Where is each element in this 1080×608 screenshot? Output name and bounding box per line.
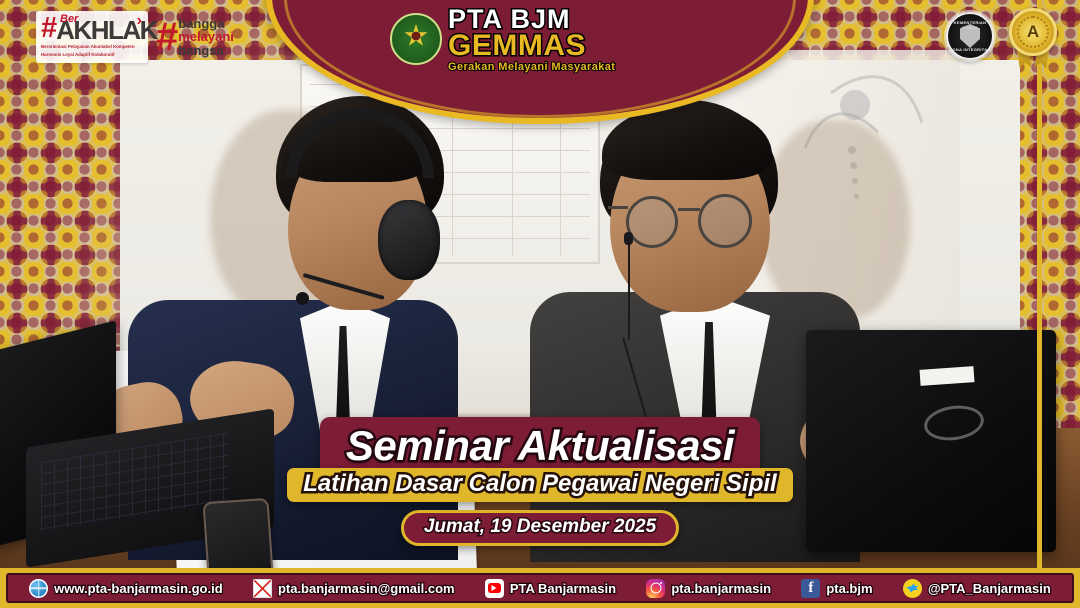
globe-icon xyxy=(29,579,48,598)
title-sub-banner: Latihan Dasar Calon Pegawai Negeri Sipil xyxy=(287,468,792,502)
twitter-label: @PTA_Banjarmasin xyxy=(928,581,1051,596)
poster-canvas: PTA BJM GEMMAS Gerakan Melayani Masyarak… xyxy=(0,0,1080,608)
footer-item-twitter[interactable]: @PTA_Banjarmasin xyxy=(903,579,1051,598)
event-subtitle: Latihan Dasar Calon Pegawai Negeri Sipil xyxy=(303,470,776,497)
facebook-label: pta.bjm xyxy=(826,581,872,596)
bangga-line2: melayani xyxy=(178,30,234,43)
youtube-label: PTA Banjarmasin xyxy=(510,581,616,596)
event-title: Seminar Aktualisasi xyxy=(346,422,734,469)
fujitsu-logo-icon xyxy=(922,402,986,444)
chevron-right-icon: › xyxy=(137,14,142,28)
pta-emblem-icon xyxy=(390,13,442,65)
twitter-icon xyxy=(903,579,922,598)
footer-item-facebook[interactable]: f pta.bjm xyxy=(801,579,872,598)
bangga-line1: bangga xyxy=(178,17,234,30)
instagram-label: pta.banjarmasin xyxy=(671,581,771,596)
ghost-silhouette-right xyxy=(760,120,910,320)
bangga-line3: bangsa xyxy=(178,44,234,57)
akhlak-ber: Ber xyxy=(60,15,78,25)
footer-contact-strip: www.pta-banjarmasin.go.id pta.banjarmasi… xyxy=(6,573,1074,603)
gemmas-tagline: Gerakan Melayani Masyarakat xyxy=(448,62,615,73)
instagram-icon xyxy=(646,579,665,598)
footer-item-youtube[interactable]: PTA Banjarmasin xyxy=(485,579,616,598)
gmail-icon xyxy=(253,579,272,598)
title-block: Seminar Aktualisasi Latihan Dasar Calon … xyxy=(240,417,840,546)
footer-item-website[interactable]: www.pta-banjarmasin.go.id xyxy=(29,579,223,598)
laptop-right-lid xyxy=(806,330,1056,552)
email-label: pta.banjarmasin@gmail.com xyxy=(278,581,455,596)
eyeglass-lens-left xyxy=(626,196,678,248)
zona-integritas-badge: KEMENTERIAN PANRB ZONA INTEGRITAS xyxy=(946,12,994,60)
gemmas-logo: PTA BJM GEMMAS Gerakan Melayani Masyarak… xyxy=(390,4,690,74)
eyeglass-lens-right xyxy=(698,194,752,248)
excellent-award-badge: A xyxy=(1006,8,1060,70)
gold-edge-strip xyxy=(1037,0,1042,568)
event-date-badge: Jumat, 19 Desember 2025 xyxy=(401,510,679,546)
zona-integritas-arc-bottom: ZONA INTEGRITAS xyxy=(948,47,992,52)
laptop-sticker xyxy=(920,366,975,386)
shield-icon xyxy=(960,24,980,48)
event-date: Jumat, 19 Desember 2025 xyxy=(424,516,656,537)
footer-item-instagram[interactable]: pta.banjarmasin xyxy=(646,579,771,598)
footer-bar: www.pta-banjarmasin.go.id pta.banjarmasi… xyxy=(0,568,1080,608)
bangga-hash: # xyxy=(156,17,175,57)
akhlak-logo: # Ber AKHLAK › Berorientasi Pelayanan Ak… xyxy=(36,11,148,63)
rosette-icon: A xyxy=(1009,8,1057,56)
akhlak-hash: # xyxy=(41,16,55,42)
website-label: www.pta-banjarmasin.go.id xyxy=(54,581,223,596)
bangga-melayani-bangsa-logo: # bangga melayani bangsa xyxy=(156,13,244,61)
akhlak-tagline-line2: Harmonis Loyal Adaptif Kolaboratif xyxy=(41,52,143,58)
award-letter: A xyxy=(1027,22,1039,42)
facebook-icon: f xyxy=(801,579,820,598)
youtube-icon xyxy=(485,579,504,598)
gemmas-subtitle: GEMMAS xyxy=(448,31,615,61)
footer-item-email[interactable]: pta.banjarmasin@gmail.com xyxy=(253,579,455,598)
